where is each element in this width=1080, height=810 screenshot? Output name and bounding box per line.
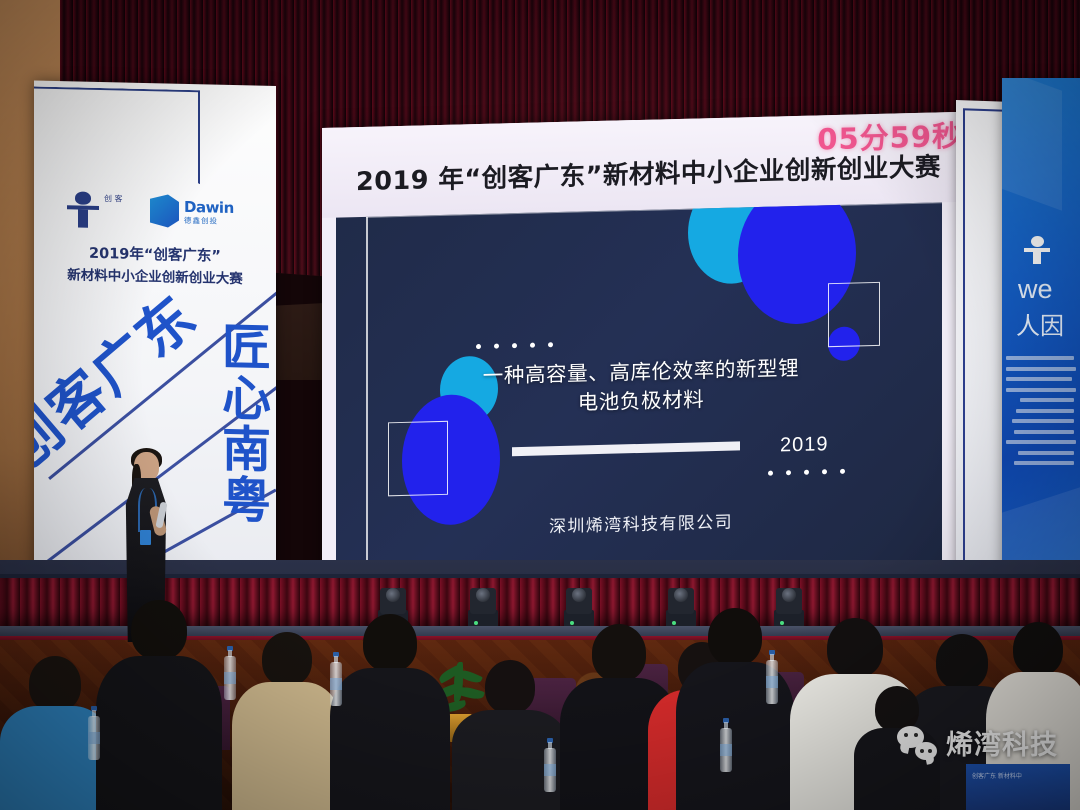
watermark: 烯湾科技: [897, 723, 1058, 762]
table-sign-line1: 创客广东 新材料中: [972, 771, 1022, 782]
sponsor-logo-sub: 德鑫创投: [184, 215, 218, 227]
countdown-timer: 05分59秒: [817, 113, 956, 159]
slide-left-rule: [366, 217, 368, 579]
screen-header-bar: 2019 年“创客广东”新材料中小企业创新创业大赛 05分59秒: [322, 112, 956, 218]
audience-member: [96, 600, 222, 810]
watermark-label: 烯湾科技: [946, 723, 1058, 762]
decor-square-right: [828, 282, 880, 347]
side-blue-banner: we 人因: [1002, 78, 1080, 638]
sponsor-logo-icon: [150, 194, 179, 228]
presenter-badge: [140, 530, 151, 545]
banner-logo-icon: [1024, 236, 1050, 264]
standee-logos: 创 客 Dawin 德鑫创投: [58, 189, 254, 235]
stage-light-2: [466, 580, 500, 628]
banner-facet-1: [1002, 78, 1062, 211]
decor-dots-bottom: [768, 469, 845, 476]
chuangke-logo-text: 创 客: [104, 194, 123, 204]
photo-scene: 2019 年“创客广东”新材料中小企业创新创业大赛 05分59秒: [0, 0, 1080, 810]
banner-we-text: we: [1018, 274, 1053, 305]
audience-member: [330, 614, 450, 810]
banner-text-lines: [1006, 356, 1080, 472]
decor-square-left: [388, 421, 448, 497]
table-sign: 创客广东 新材料中: [966, 764, 1070, 810]
decor-dots-top: [476, 342, 553, 349]
presentation-slide: 一种高容量、高库伦效率的新型锂 电池负极材料 2019 深圳烯湾科技有限公司: [336, 202, 942, 579]
audience-member: [676, 608, 794, 810]
slide-year: 2019: [780, 433, 829, 457]
wechat-icon: [897, 726, 937, 760]
standee-vertical-text: 匠心南粤: [200, 320, 266, 525]
audience-member: [232, 632, 342, 810]
sponsor-logo: Dawin 德鑫创投: [150, 193, 260, 233]
banner-cn-text: 人因: [1016, 306, 1064, 341]
standee-chevron: [34, 86, 200, 184]
chuangke-logo-icon: [66, 191, 100, 228]
slide-title: 一种高容量、高库伦效率的新型锂 电池负极材料: [406, 352, 876, 422]
slide-divider-bar: [512, 441, 740, 456]
led-screen: 2019 年“创客广东”新材料中小企业创新创业大赛 05分59秒: [322, 112, 956, 592]
stage-light-3: [562, 580, 596, 628]
